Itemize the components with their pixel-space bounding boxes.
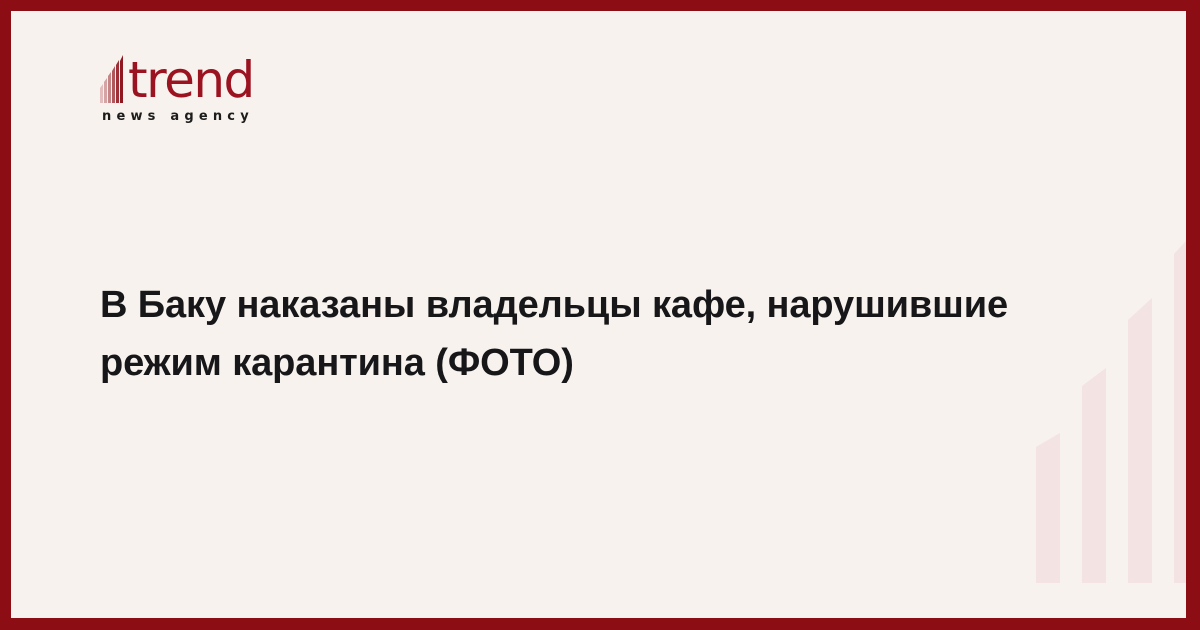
watermark-bar-1 (1036, 433, 1060, 583)
watermark-bar-4 (1174, 228, 1186, 583)
ascending-bars-icon (100, 55, 127, 103)
watermark-bar-2 (1082, 368, 1106, 583)
logo-lockup: trend (100, 49, 280, 103)
logo-tagline: news agency (102, 109, 280, 124)
card-canvas: trend news agency В Баку наказаны владел… (11, 11, 1186, 618)
trend-logo[interactable]: trend news agency (100, 49, 280, 124)
logo-wordmark: trend (128, 57, 254, 103)
article-headline: В Баку наказаны владельцы кафе, нарушивш… (100, 276, 1020, 392)
ascending-bars-watermark (1014, 11, 1178, 618)
watermark-bar-3 (1128, 298, 1152, 583)
share-card-frame: trend news agency В Баку наказаны владел… (0, 0, 1200, 630)
